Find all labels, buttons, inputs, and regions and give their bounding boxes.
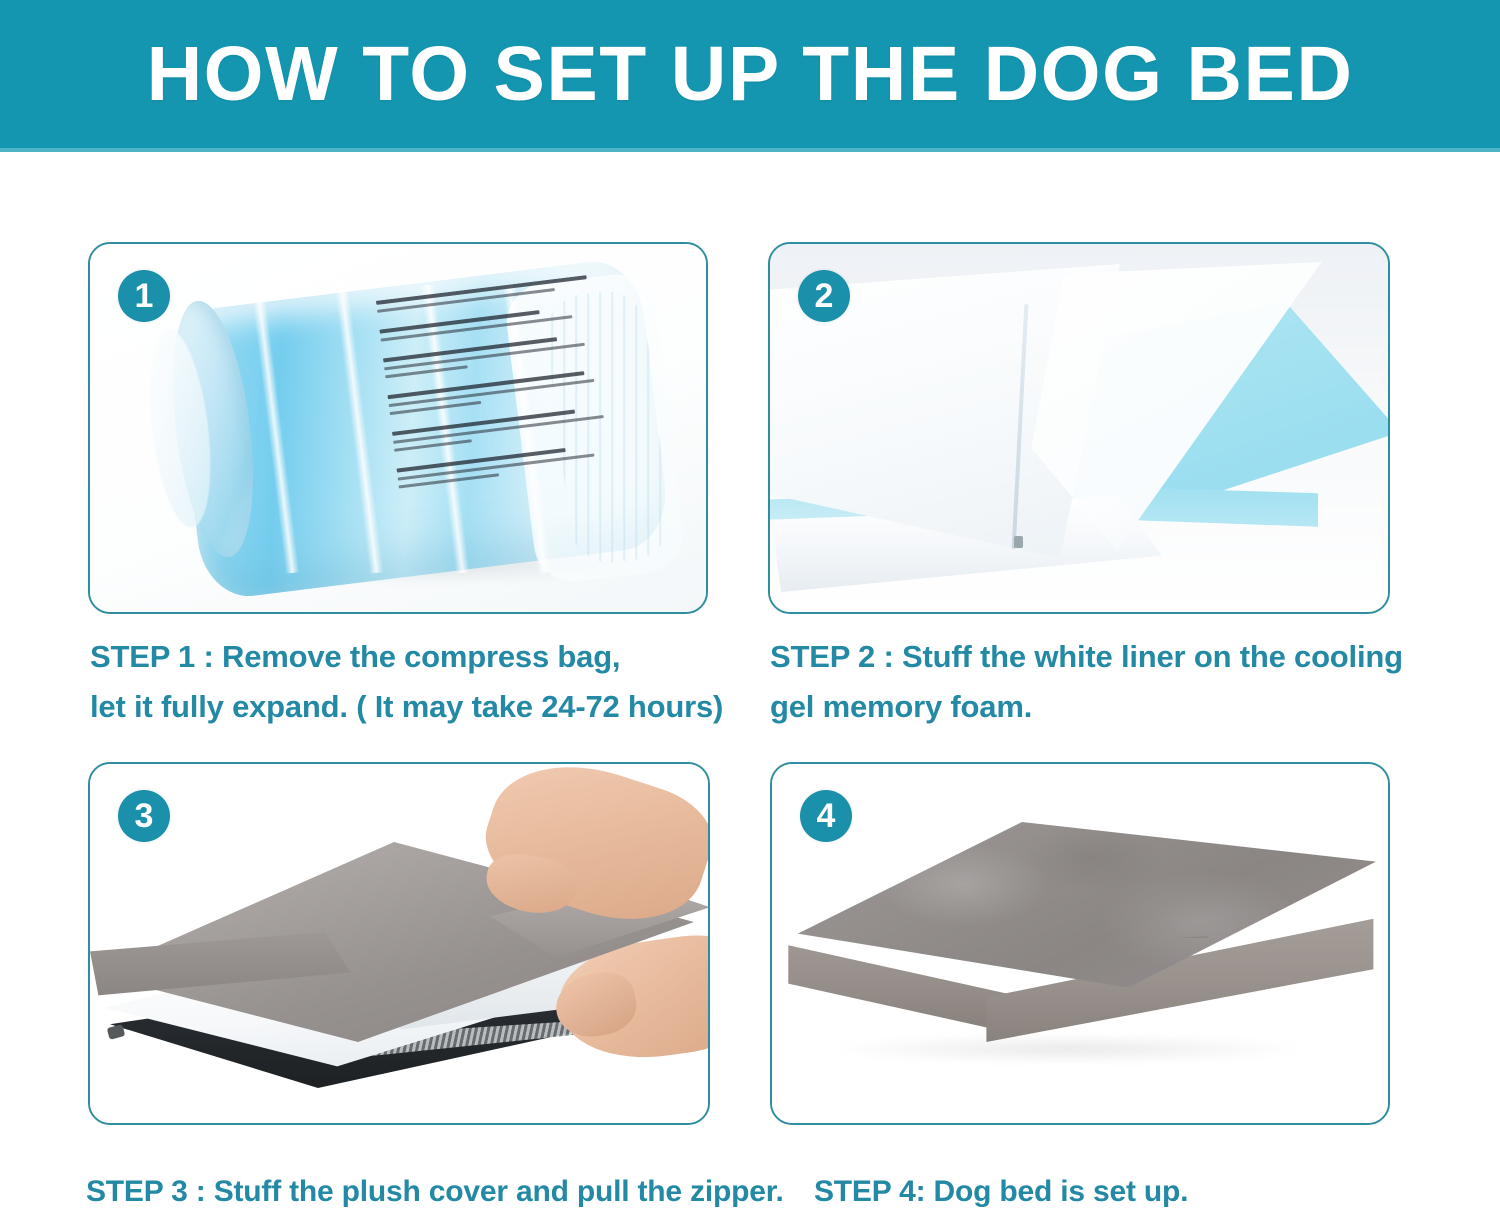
step-1-caption: STEP 1 : Remove the compress bag, let it…: [90, 632, 723, 732]
step-number-badge-3: 3: [118, 790, 170, 842]
step-number-badge-4: 4: [800, 790, 852, 842]
step-4-caption: STEP 4: Dog bed is set up.: [814, 1168, 1188, 1217]
caption-line: STEP 2 : Stuff the white liner on the co…: [770, 632, 1403, 682]
step-3-caption: STEP 3 : Stuff the plush cover and pull …: [86, 1168, 784, 1217]
step-number-badge-2: 2: [798, 270, 850, 322]
caption-line: STEP 4: Dog bed is set up.: [814, 1168, 1188, 1217]
step-4-photo: [772, 764, 1388, 1123]
warning-label-text-block: [376, 273, 634, 545]
page-title: HOW TO SET UP THE DOG BED: [147, 36, 1354, 113]
zipper-pull: [1014, 536, 1023, 548]
caption-line: STEP 1 : Remove the compress bag,: [90, 632, 723, 682]
step-panel-2: 2: [768, 242, 1390, 614]
step-2-caption: STEP 2 : Stuff the white liner on the co…: [770, 632, 1403, 732]
step-panel-4: 4: [770, 762, 1390, 1125]
step-1-photo: [90, 244, 706, 612]
step-3-photo: [90, 764, 708, 1123]
step-panel-3: 3: [88, 762, 710, 1125]
drop-shadow: [832, 1034, 1302, 1064]
header-banner: HOW TO SET UP THE DOG BED: [0, 0, 1500, 152]
caption-line: let it fully expand. ( It may take 24-72…: [90, 682, 723, 732]
step-number-badge-1: 1: [118, 270, 170, 322]
caption-line: STEP 3 : Stuff the plush cover and pull …: [86, 1168, 784, 1217]
step-panel-1: 1: [88, 242, 708, 614]
step-2-photo: [770, 244, 1388, 612]
caption-line: gel memory foam.: [770, 682, 1403, 732]
